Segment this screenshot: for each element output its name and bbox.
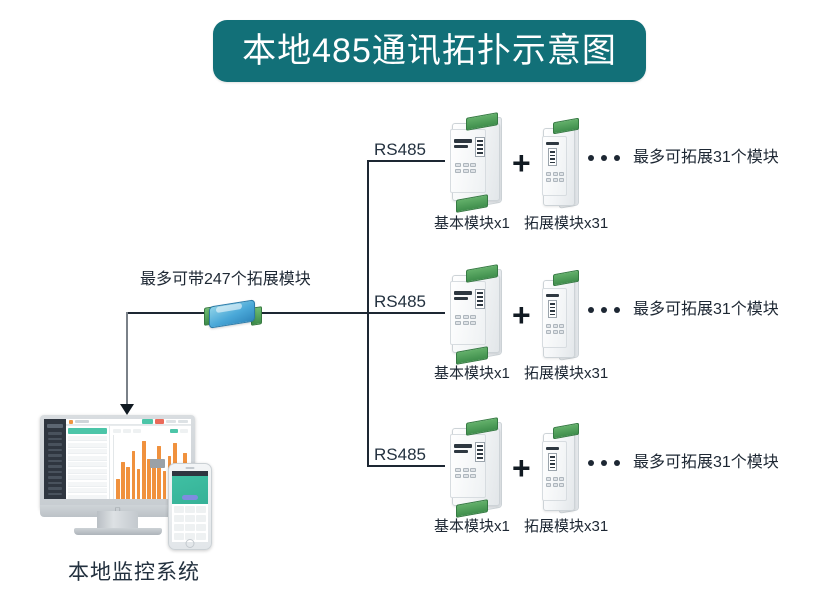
dip-switch xyxy=(477,296,483,298)
page-title: 本地485通讯拓扑示意图 xyxy=(242,34,617,68)
base-module-caption-2: 基本模块x1 xyxy=(434,366,510,381)
dip-switch-block xyxy=(548,148,557,166)
dip-switch xyxy=(477,292,483,294)
module-button-grid xyxy=(455,315,476,325)
device-list-row xyxy=(68,449,107,454)
module-button-grid xyxy=(546,172,564,182)
sidebar-menu-item xyxy=(48,460,62,463)
status-led-strip xyxy=(454,139,472,143)
bar xyxy=(116,479,120,499)
phone-app-tile xyxy=(196,515,206,522)
device-list-row xyxy=(68,436,107,441)
status-led-strip xyxy=(546,447,559,450)
dashboard-sidebar xyxy=(44,419,66,499)
module-button xyxy=(546,483,551,487)
device-list-row xyxy=(68,475,107,480)
bar xyxy=(121,462,125,499)
phone-app-tile xyxy=(185,506,195,513)
bar xyxy=(137,469,141,499)
module-button xyxy=(455,474,461,478)
module-button xyxy=(559,324,564,328)
phone-hero-button xyxy=(182,495,198,500)
chart-tooltip xyxy=(150,459,165,468)
sidebar-menu-item xyxy=(48,476,62,479)
wire-converter-to-bus xyxy=(261,312,368,314)
dot xyxy=(601,307,607,313)
module-button xyxy=(463,474,469,478)
dip-switch-block xyxy=(475,137,485,157)
dot xyxy=(601,155,607,161)
monitor-stand-neck xyxy=(97,511,138,528)
module-button-grid xyxy=(455,163,476,173)
sidebar-menu-item xyxy=(48,487,62,490)
dip-switch xyxy=(550,467,555,469)
plus-sign-2: + xyxy=(512,299,531,331)
chart-tab xyxy=(113,429,121,433)
dip-switch xyxy=(477,457,483,459)
device-list-row xyxy=(68,462,107,467)
phone-hero-panel xyxy=(172,476,208,504)
rs485-label-2: RS485 xyxy=(374,293,426,310)
dot xyxy=(601,460,607,466)
module-button xyxy=(470,315,476,319)
dip-switch xyxy=(550,303,555,305)
plus-sign-3: + xyxy=(512,452,531,484)
module-button xyxy=(546,324,551,328)
expansion-module-caption-2: 拓展模块x31 xyxy=(524,366,608,381)
sidebar-menu-item xyxy=(48,443,62,446)
dip-switch xyxy=(477,453,483,455)
dot xyxy=(614,307,620,313)
base-module-3 xyxy=(444,420,506,512)
bar xyxy=(132,451,136,499)
ellipsis-dots-2 xyxy=(588,307,620,313)
monitor-stand-foot xyxy=(74,528,162,535)
chart-tab-active xyxy=(170,429,178,433)
module-button-grid xyxy=(546,324,564,334)
device-list-row xyxy=(68,488,107,493)
dip-switch xyxy=(550,460,555,462)
status-led-strip xyxy=(454,291,472,295)
device-list-row xyxy=(68,482,107,487)
module-button xyxy=(463,169,469,173)
status-led-strip xyxy=(454,444,472,448)
dip-switch xyxy=(550,456,555,458)
wire-down-to-host xyxy=(126,312,128,408)
plus-sign-1: + xyxy=(512,147,531,179)
phone-speaker xyxy=(186,467,195,469)
phone-app-tile xyxy=(185,524,195,531)
module-button xyxy=(470,169,476,173)
phone-home-button xyxy=(186,539,195,548)
dip-switch xyxy=(550,155,555,157)
dot xyxy=(614,460,620,466)
expansion-note-3: 最多可拓展31个模块 xyxy=(633,455,779,471)
dashboard-logo xyxy=(47,424,63,428)
page-title-banner: 本地485通讯拓扑示意图 xyxy=(213,20,646,82)
sidebar-menu-item xyxy=(48,454,62,457)
local-system-label: 本地监控系统 xyxy=(68,562,200,583)
module-button xyxy=(546,178,551,182)
mobile-phone xyxy=(168,463,212,550)
module-button xyxy=(559,178,564,182)
bar xyxy=(126,467,130,499)
module-faceplate xyxy=(542,136,567,196)
module-button xyxy=(546,477,551,481)
module-button xyxy=(455,163,461,167)
bar xyxy=(152,465,156,499)
module-button xyxy=(559,172,564,176)
phone-app-tile xyxy=(196,533,206,540)
phone-app-tile xyxy=(185,515,195,522)
module-button xyxy=(546,330,551,334)
phone-app-tile xyxy=(174,506,184,513)
dot xyxy=(614,155,620,161)
module-button-grid xyxy=(546,477,564,487)
device-list-row xyxy=(68,456,107,461)
rs485-label-1: RS485 xyxy=(374,141,426,158)
status-led-strip xyxy=(454,145,468,148)
module-button xyxy=(463,163,469,167)
module-button xyxy=(553,172,558,176)
sidebar-menu-item xyxy=(48,449,62,452)
base-module-1 xyxy=(444,115,506,207)
expansion-module-2 xyxy=(537,272,581,362)
toolbar-primary-button xyxy=(142,419,153,424)
module-button xyxy=(553,483,558,487)
sidebar-menu-item xyxy=(48,465,62,468)
module-button xyxy=(463,321,469,325)
dot xyxy=(588,307,594,313)
sidebar-menu-item xyxy=(48,432,62,435)
ellipsis-dots-1 xyxy=(588,155,620,161)
expansion-module-caption-3: 拓展模块x31 xyxy=(524,519,608,534)
device-list-row xyxy=(68,495,107,500)
module-button xyxy=(553,324,558,328)
module-button xyxy=(470,474,476,478)
dip-switch xyxy=(477,449,483,451)
chart-tab-spacer xyxy=(143,429,168,433)
local-monitoring-workstation:  xyxy=(40,415,230,550)
wire-converter-to-host xyxy=(126,312,206,314)
sidebar-menu-item xyxy=(48,438,62,441)
module-faceplate xyxy=(542,288,567,348)
status-led-strip xyxy=(546,142,559,145)
phone-app-grid xyxy=(172,504,208,542)
sidebar-menu-item xyxy=(48,493,62,496)
ellipsis-dots-3 xyxy=(588,460,620,466)
dip-switch xyxy=(477,304,483,306)
module-button xyxy=(546,172,551,176)
branch-line-3 xyxy=(367,465,445,467)
dip-switch-block xyxy=(548,300,557,318)
expansion-note-1: 最多可拓展31个模块 xyxy=(633,150,779,166)
dip-switch xyxy=(550,158,555,160)
module-button xyxy=(470,321,476,325)
chart-tab-row xyxy=(113,429,188,433)
chart-tab xyxy=(180,429,188,433)
dip-switch xyxy=(477,445,483,447)
sidebar-menu-item xyxy=(48,471,62,474)
module-button xyxy=(455,321,461,325)
dip-switch xyxy=(477,140,483,142)
dashboard-device-list xyxy=(66,426,110,499)
phone-app-tile xyxy=(196,506,206,513)
device-list-row xyxy=(68,469,107,474)
module-button xyxy=(553,477,558,481)
dot xyxy=(588,460,594,466)
chart-tab xyxy=(133,429,141,433)
dip-switch xyxy=(477,152,483,154)
status-led-strip xyxy=(546,294,559,297)
branch-line-1 xyxy=(367,160,445,162)
rs485-label-3: RS485 xyxy=(374,446,426,463)
dip-switch-block xyxy=(475,442,485,462)
dip-switch xyxy=(550,151,555,153)
dip-switch xyxy=(477,148,483,150)
toolbar-brand-icon xyxy=(69,420,73,424)
device-list-row xyxy=(68,443,107,448)
base-module-caption-3: 基本模块x1 xyxy=(434,519,510,534)
dip-switch-block xyxy=(475,289,485,309)
dip-switch xyxy=(477,300,483,302)
expansion-note-2: 最多可拓展31个模块 xyxy=(633,302,779,318)
dip-switch xyxy=(550,314,555,316)
status-led-strip xyxy=(454,297,468,300)
toolbar-menu-item xyxy=(178,420,188,423)
toolbar-title xyxy=(75,420,89,423)
dip-switch xyxy=(550,463,555,465)
branch-line-2 xyxy=(367,312,445,314)
dip-switch xyxy=(550,162,555,164)
arrow-to-host xyxy=(120,404,134,415)
dip-switch-block xyxy=(548,453,557,471)
base-module-2 xyxy=(444,267,506,359)
sidebar-menu-item xyxy=(48,482,62,485)
dip-switch xyxy=(550,310,555,312)
bar xyxy=(142,441,146,499)
chart-tab xyxy=(123,429,131,433)
module-button xyxy=(470,468,476,472)
status-led-strip xyxy=(454,450,468,453)
phone-app-tile xyxy=(174,515,184,522)
expansion-module-caption-1: 拓展模块x31 xyxy=(524,216,608,231)
rs485-converter xyxy=(204,300,261,327)
module-faceplate xyxy=(542,441,567,501)
module-button xyxy=(455,169,461,173)
module-button xyxy=(553,178,558,182)
device-list-header xyxy=(68,428,107,434)
toolbar-menu-item xyxy=(166,420,176,423)
expansion-module-1 xyxy=(537,120,581,210)
toolbar-alert-button xyxy=(155,419,164,424)
module-button xyxy=(455,315,461,319)
module-button xyxy=(553,330,558,334)
module-button xyxy=(470,163,476,167)
module-button xyxy=(559,477,564,481)
dip-switch xyxy=(477,144,483,146)
base-module-caption-1: 基本模块x1 xyxy=(434,216,510,231)
expansion-module-3 xyxy=(537,425,581,515)
capacity-note-label: 最多可带247个拓展模块 xyxy=(140,272,311,288)
phone-app-tile xyxy=(174,524,184,531)
bar xyxy=(157,446,161,499)
module-button xyxy=(559,483,564,487)
topology-diagram: 本地485通讯拓扑示意图 最多可带247个拓展模块 xyxy=(0,0,815,605)
module-button xyxy=(559,330,564,334)
phone-app-tile xyxy=(174,533,184,540)
dip-switch xyxy=(550,307,555,309)
phone-app-tile xyxy=(196,524,206,531)
module-button xyxy=(463,468,469,472)
module-button xyxy=(455,468,461,472)
bar xyxy=(163,471,167,499)
module-button xyxy=(463,315,469,319)
module-button-grid xyxy=(455,468,476,478)
dot xyxy=(588,155,594,161)
phone-screen xyxy=(172,471,208,542)
